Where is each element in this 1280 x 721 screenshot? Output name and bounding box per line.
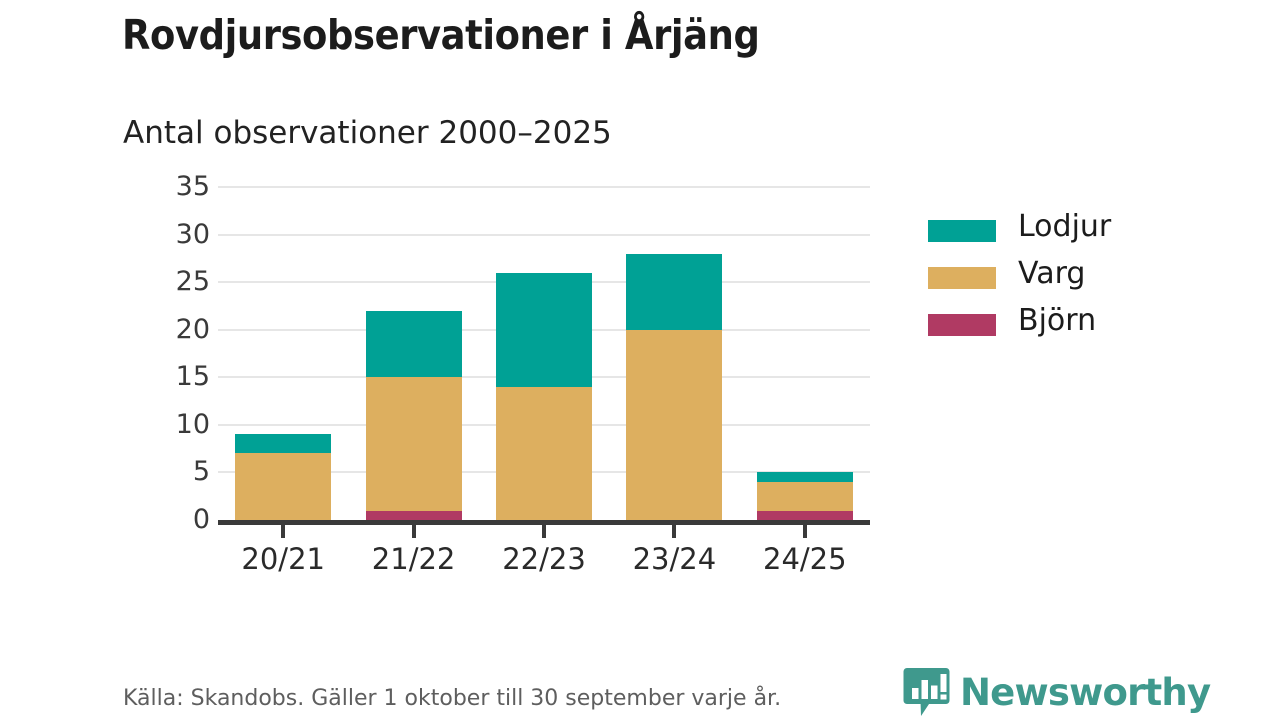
- y-axis-tick-label: 35: [140, 173, 210, 200]
- y-axis-tick-label: 30: [140, 221, 210, 248]
- x-axis-tick-mark: [542, 525, 546, 538]
- bar-segment[interactable]: [757, 511, 853, 521]
- x-axis-tick-mark: [672, 525, 676, 538]
- bar-segment[interactable]: [366, 511, 462, 521]
- bar-segment[interactable]: [235, 453, 331, 520]
- bar-segment[interactable]: [235, 434, 331, 453]
- bar-segment[interactable]: [757, 472, 853, 482]
- legend-item-label: Björn: [1018, 303, 1096, 338]
- chart-title: Rovdjursobservationer i Årjäng: [122, 12, 1122, 59]
- y-axis-tick-label: 20: [140, 316, 210, 343]
- y-axis-tick-label: 10: [140, 411, 210, 438]
- source-note: Källa: Skandobs. Gäller 1 oktober till 3…: [123, 686, 781, 711]
- legend-color-swatch: [928, 314, 996, 336]
- chart-container: Rovdjursobservationer i Årjäng Antal obs…: [0, 0, 1280, 720]
- y-axis-tick-label: 25: [140, 268, 210, 295]
- x-axis-tick-mark: [803, 525, 807, 538]
- bar-segment[interactable]: [366, 311, 462, 378]
- bar-segment[interactable]: [496, 273, 592, 387]
- y-axis-tick-label: 15: [140, 363, 210, 390]
- legend-item-label: Varg: [1018, 256, 1085, 291]
- gridline: [218, 234, 870, 236]
- x-axis-tick-label: 24/25: [725, 542, 885, 576]
- bar-segment[interactable]: [496, 387, 592, 520]
- newsworthy-wordmark: Newsworthy: [960, 674, 1210, 711]
- y-axis-tick-label: 5: [140, 458, 210, 485]
- bar-segment[interactable]: [626, 330, 722, 520]
- legend-item-label: Lodjur: [1018, 209, 1111, 244]
- newsworthy-logo: Newsworthy: [903, 667, 1210, 717]
- chart-subtitle: Antal observationer 2000–2025: [123, 115, 903, 152]
- newsworthy-speech-bubble-bar-chart-icon: [903, 667, 950, 717]
- legend-color-swatch: [928, 267, 996, 289]
- legend-color-swatch: [928, 220, 996, 242]
- y-axis-tick-label: 0: [140, 506, 210, 533]
- bar-segment[interactable]: [757, 482, 853, 511]
- bar-segment[interactable]: [626, 254, 722, 330]
- x-axis-tick-mark: [281, 525, 285, 538]
- x-axis-tick-mark: [412, 525, 416, 538]
- bar-segment[interactable]: [366, 377, 462, 510]
- plot-area: 0510152025303520/2121/2222/2323/2424/25: [218, 180, 870, 525]
- gridline: [218, 186, 870, 188]
